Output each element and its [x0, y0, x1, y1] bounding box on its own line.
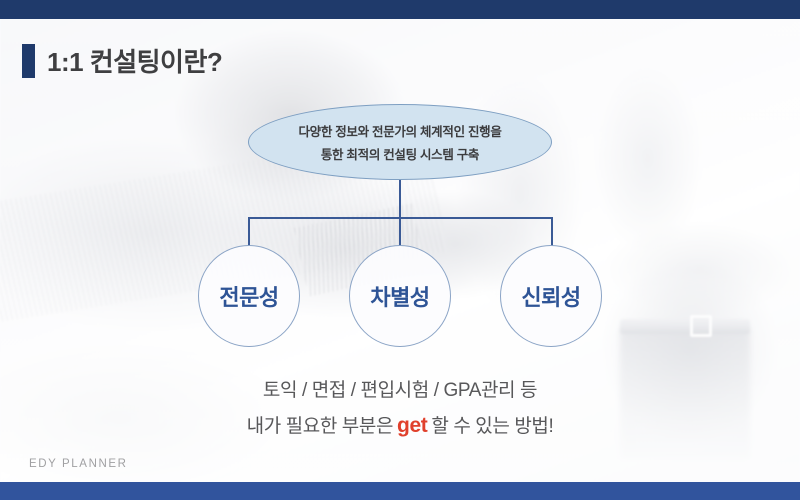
connector-drop-middle — [399, 217, 401, 246]
slide-canvas: 1:1 컨설팅이란? 다양한 정보와 전문가의 체계적인 진행을 통한 최적의 … — [0, 0, 800, 500]
connector-drop-right — [551, 217, 553, 246]
connector-stem-vertical — [399, 178, 401, 218]
bottom-accent-bar — [0, 482, 800, 500]
copy-line-2-after: 할 수 있는 방법! — [431, 411, 553, 438]
ellipse-line-1: 다양한 정보와 전문가의 체계적인 진행을 — [298, 121, 501, 140]
page-title: 1:1 컨설팅이란? — [22, 42, 222, 79]
ellipse-line-2: 통한 최적의 컨설팅 시스템 구축 — [321, 144, 479, 163]
pillar-circle-3: 신뢰성 — [500, 245, 602, 347]
connector-drop-left — [248, 217, 250, 246]
title-text: 1:1 컨설팅이란? — [47, 42, 222, 79]
pillar-circle-2: 차별성 — [349, 245, 451, 347]
pillar-circle-1-label: 전문성 — [219, 280, 278, 312]
title-accent-bar — [22, 44, 35, 78]
top-accent-bar — [0, 0, 800, 19]
copy-line-2-before: 내가 필요한 부분은 — [247, 411, 393, 438]
pillar-circle-3-label: 신뢰성 — [521, 280, 580, 312]
footer-brand: EDY PLANNER — [29, 458, 128, 470]
copy-line-2: 내가 필요한 부분은 get 할 수 있는 방법! — [247, 411, 554, 438]
pillar-circle-1: 전문성 — [198, 245, 300, 347]
headline-ellipse: 다양한 정보와 전문가의 체계적인 진행을 통한 최적의 컨설팅 시스템 구축 — [248, 104, 552, 180]
copy-accent-get: get — [393, 414, 431, 438]
copy-line-1: 토익 / 면접 / 편입시험 / GPA관리 등 — [263, 375, 537, 402]
bottom-copy-block: 토익 / 면접 / 편입시험 / GPA관리 등 내가 필요한 부분은 get … — [0, 375, 800, 438]
pillar-circle-2-label: 차별성 — [370, 280, 429, 312]
